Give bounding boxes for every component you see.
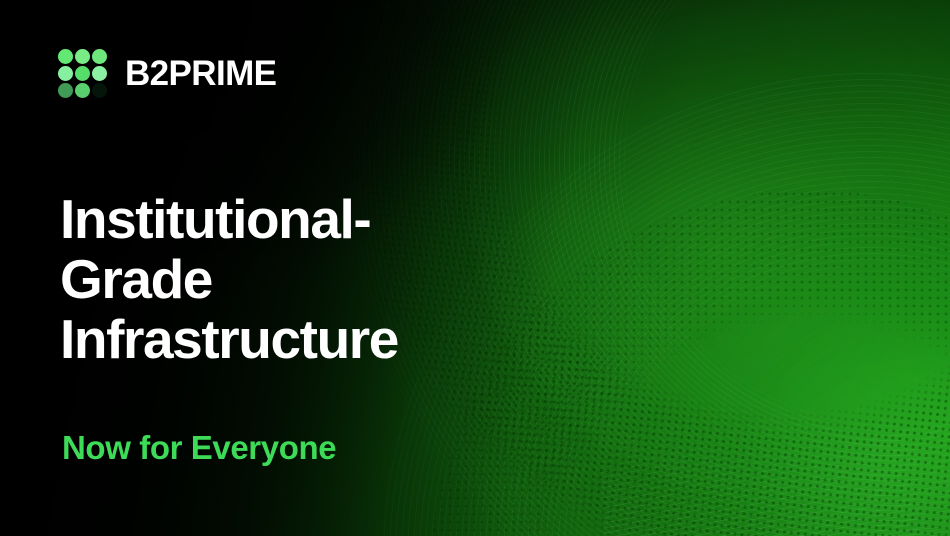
logo-dot-7 [58,83,73,98]
logo-dot-9 [92,83,107,98]
logo-dot-6 [92,66,107,81]
headline: Institutional- Grade Infrastructure [60,190,580,370]
brand-lockup: B2PRIME [58,49,276,98]
b2prime-dot-grid-logo-icon [58,49,107,98]
subheadline: Now for Everyone [62,428,336,468]
headline-line-3: Infrastructure [60,310,580,370]
brand-wordmark: B2PRIME [125,56,276,91]
logo-dot-5 [75,66,90,81]
promo-banner: B2PRIME Institutional- Grade Infrastruct… [0,0,950,536]
logo-dot-1 [58,49,73,64]
logo-dot-2 [75,49,90,64]
logo-dot-3 [92,49,107,64]
headline-line-1: Institutional- [60,190,580,250]
logo-dot-8 [75,83,90,98]
headline-line-2: Grade [60,250,580,310]
logo-dot-4 [58,66,73,81]
banner-content: B2PRIME Institutional- Grade Infrastruct… [0,0,950,536]
